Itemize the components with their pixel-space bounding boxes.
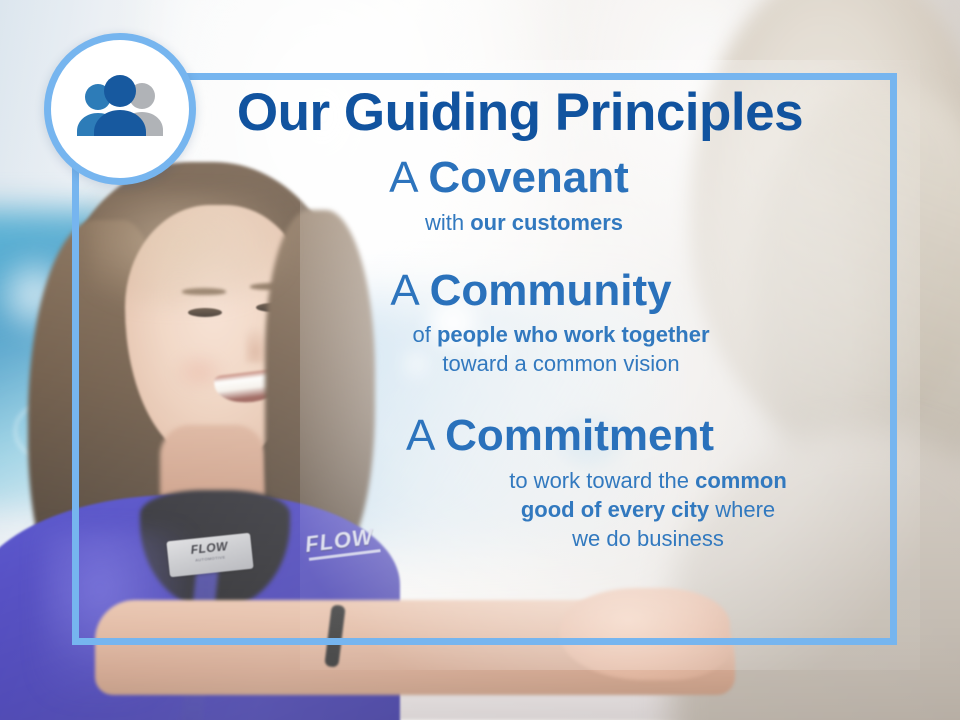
detail-span: we do business (572, 526, 724, 551)
detail-line: toward a common vision (242, 349, 880, 378)
principle-commitment: A Commitment to work toward the common g… (240, 412, 880, 553)
principle-keyword: Commitment (445, 411, 714, 460)
principle-heading: A Community (182, 267, 880, 315)
principle-article: A (406, 411, 445, 460)
detail-span-bold: our customers (470, 210, 623, 235)
principle-detail: with our customers (168, 208, 880, 237)
principle-detail: of people who work together toward a com… (242, 320, 880, 378)
page-title: Our Guiding Principles (160, 86, 880, 140)
principle-heading: A Commitment (240, 412, 880, 460)
principle-covenant: A Covenant with our customers (138, 154, 880, 237)
principle-detail: to work toward the common good of every … (416, 466, 880, 553)
text-column: Our Guiding Principles A Covenant with o… (120, 86, 880, 553)
detail-line: good of every city where (416, 495, 880, 524)
principle-keyword: Community (430, 266, 672, 315)
principle-article: A (390, 266, 429, 315)
detail-span: where (709, 497, 775, 522)
detail-span: with (425, 210, 470, 235)
principle-article: A (389, 153, 428, 202)
detail-span: of (412, 322, 436, 347)
detail-span-bold: good of every city (521, 497, 709, 522)
detail-span: toward a common vision (442, 351, 679, 376)
employee-hands (560, 588, 730, 680)
detail-line: of people who work together (242, 320, 880, 349)
detail-line: we do business (416, 524, 880, 553)
banner-root: FLOW AUTOMOTIVE FLOW Our Guiding Princip… (0, 0, 960, 720)
detail-line: to work toward the common (416, 466, 880, 495)
detail-span-bold: common (695, 468, 787, 493)
detail-span-bold: people who work together (437, 322, 710, 347)
principle-keyword: Covenant (428, 153, 628, 202)
principle-community: A Community of people who work together … (182, 267, 880, 379)
principle-heading: A Covenant (138, 154, 880, 202)
detail-span: to work toward the (509, 468, 695, 493)
